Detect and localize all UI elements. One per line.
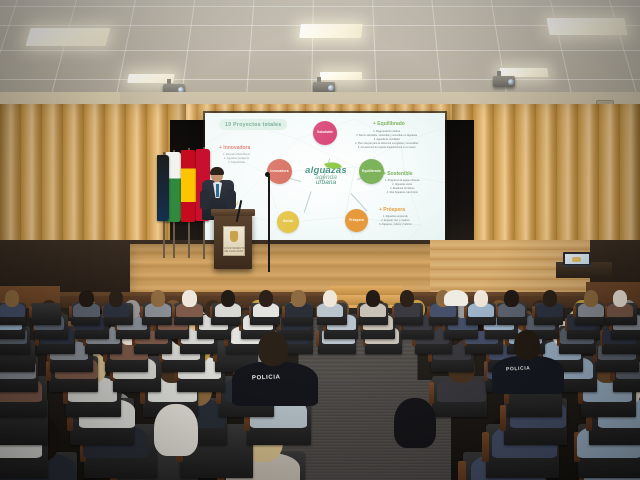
audience-head-scarf-dark [394,398,436,448]
slide-node-social: Social [277,211,299,233]
presenter-tie [216,184,219,197]
microphone-head [265,172,270,177]
seat-armrest [140,306,143,318]
presenter-arm-right [227,190,236,210]
seat-armrest [429,382,434,404]
node-label: Innovadora [270,170,288,173]
slide-node-prospera: Próspera [345,209,368,232]
logo-line-3: urbana [289,179,363,186]
seat-armrest [29,306,32,318]
audience-police-officer [232,362,318,406]
slide-branch-body-equilibrado: 1. Regeneración urbana 2. Barrio saludab… [355,130,418,149]
audience-head [366,290,380,307]
node-label: Social [283,220,293,223]
audience-head [258,332,288,366]
slide-branch-body-sostenible: 1. Programa de aguas urbanas 2. Alguazas… [385,179,419,195]
audience-head [474,290,488,307]
presenter-hair [210,167,224,175]
slide-branch-title-equilibrado: + Equilibrado [373,121,405,127]
slide-branch-title-innovadora: + Innovadora [219,145,250,151]
seat-armrest [458,461,466,480]
node-label: Saludable [317,131,333,134]
slide-branch-title-prospera: + Próspera [379,207,405,213]
audience-head [109,290,123,307]
audience-head [291,290,305,307]
slide-total-projects-badge: 19 Proyectos totales [219,119,287,130]
auditorium-photo: 19 Proyectos totales Saludable Innovador… [0,0,640,480]
flag-spain [181,150,196,222]
flag-europe [157,155,169,221]
lectern: AYUNTAMIENTO DE ALGUAZAS [214,213,252,269]
ceiling-light-panel [320,72,362,80]
seat-armrest [69,306,72,318]
audience-head [613,290,627,307]
seat-armrest [464,306,467,318]
slide-branch-body-innovadora: 1. Mercado Plaza Mayor 2. Alguazas Intel… [223,153,250,165]
audience-head [151,290,165,307]
audience-head [182,290,196,307]
seat-armrest [573,306,576,318]
lectern-top [211,209,255,216]
audience-head [79,290,93,307]
lectern-municipal-crest: AYUNTAMIENTO DE ALGUAZAS [223,226,245,256]
slide-branch-body-prospera: 1. Alguazas emprende 2. Espacio vivo y c… [379,215,412,227]
audience-head [5,290,19,307]
seat-armrest [316,330,320,345]
slide-branch-title-sostenible: + Sostenible [383,171,413,177]
presenter-arm-left [200,190,209,210]
seat-armrest [282,306,285,318]
audience-head [543,290,557,307]
slide-node-saludable: Saludable [313,121,337,145]
seat-armrest [500,405,506,431]
police-jacket-text-right: POLICIA [506,365,531,372]
seat-armrest [532,306,535,318]
slide-center-logo: alguazas agenda urbana [289,165,363,201]
audience-head [221,290,235,307]
laptop-base [562,265,592,268]
laptop-lid [563,252,591,265]
microphone-stand [268,176,270,272]
ceiling-light-panel [547,18,628,35]
audience-head [584,290,598,307]
seat-armrest [172,306,175,318]
audience-head [323,290,337,307]
node-label: Próspera [349,219,364,222]
audience-head [514,330,540,360]
seat-armrest [249,306,252,318]
ceiling-light-panel [299,24,362,38]
lectern-crest-label: AYUNTAMIENTO DE ALGUAZAS [224,247,244,253]
seat-armrest [482,432,489,462]
audience-head [504,290,518,307]
node-label: Equilibrado [362,170,381,173]
presenter-laptop [562,252,592,267]
shield-icon [230,231,238,242]
audience-head [259,290,273,307]
audience-police-officer-right [492,356,564,394]
audience-head-scarf [154,404,198,456]
ceiling-projector [493,76,515,87]
police-jacket-text: POLICIA [252,375,281,382]
ceiling-light-panel [25,28,110,46]
laptop-screen [565,254,589,264]
audience-head [400,290,414,307]
seat [31,303,61,325]
audience-head-cap [444,290,468,306]
